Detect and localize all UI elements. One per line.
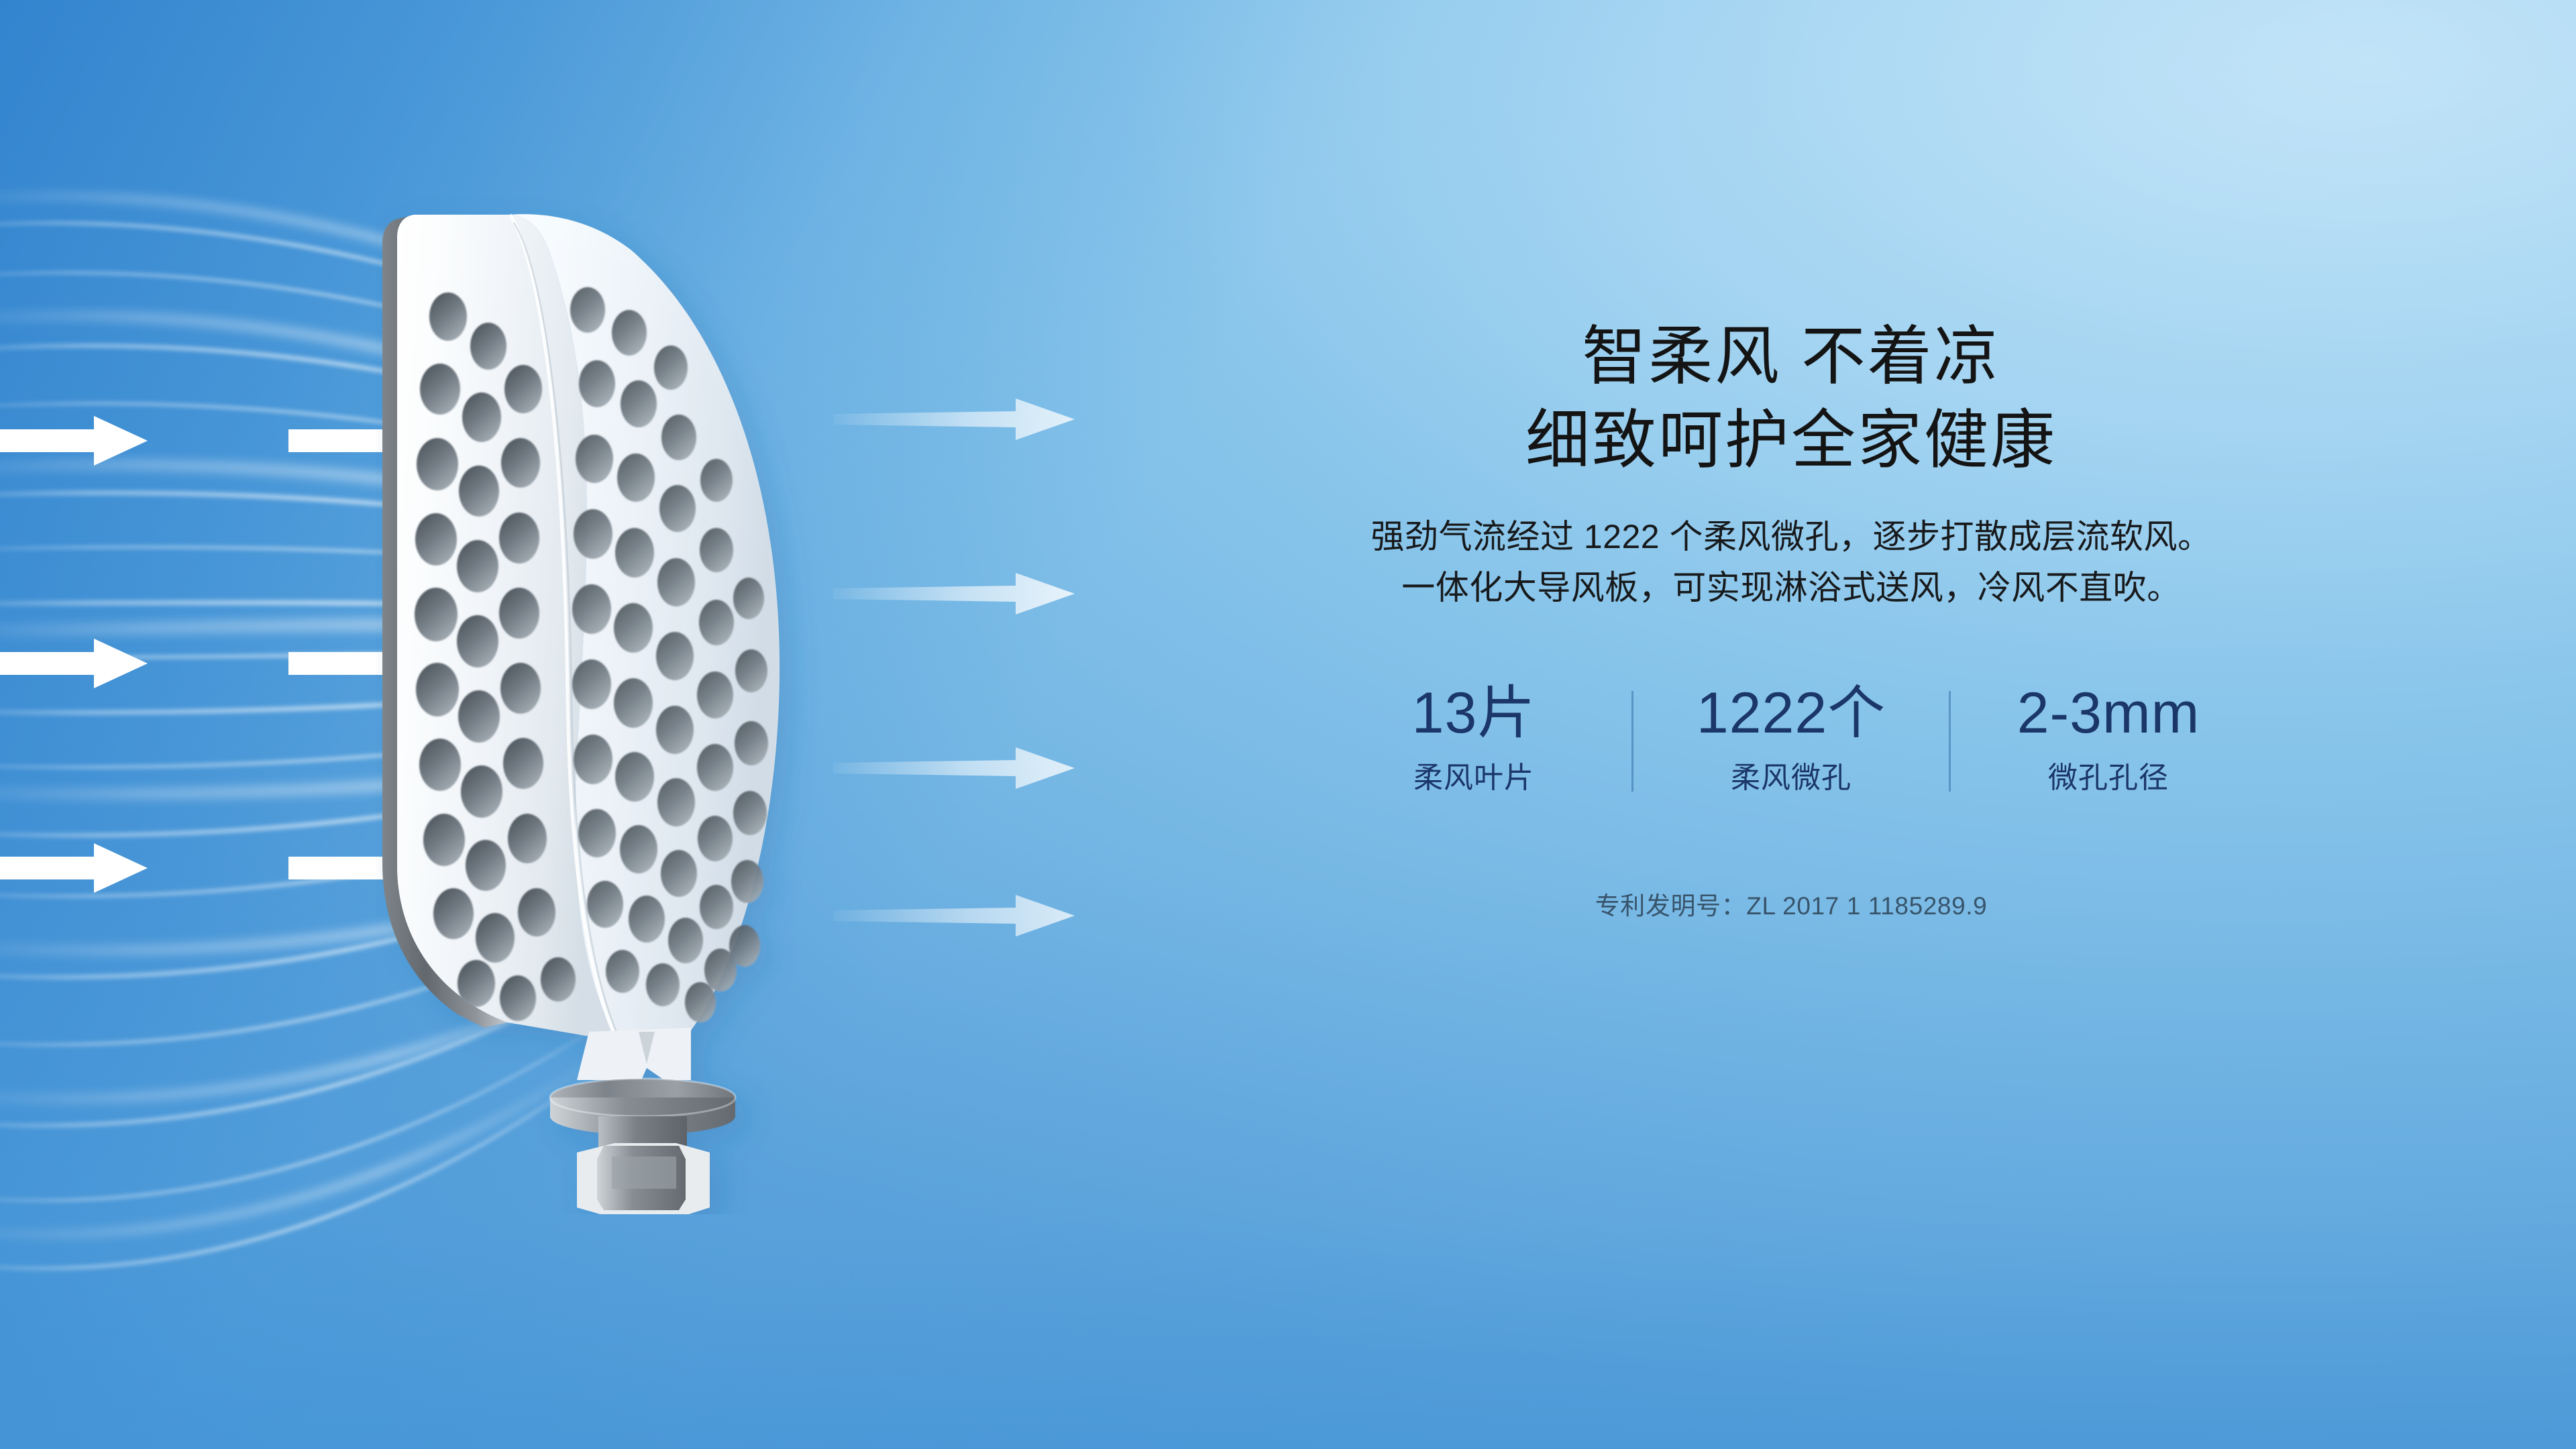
page-title: 智柔风 不着凉 细致呵护全家健康 [1201, 315, 2381, 483]
headline-line-1: 智柔风 不着凉 [1201, 315, 2381, 399]
stat-value: 2-3mm [2017, 684, 2200, 742]
description-line-2: 一体化大导风板，可实现淋浴式送风，冷风不直吹。 [1201, 562, 2381, 613]
stat-label: 柔风微孔 [1731, 762, 1851, 794]
description-line-1: 强劲气流经过 1222 个柔风微孔，逐步打散成层流软风。 [1201, 511, 2381, 562]
stat-value: 1222个 [1697, 684, 1886, 742]
copy-panel: 智柔风 不着凉 细致呵护全家健康 强劲气流经过 1222 个柔风微孔，逐步打散成… [1201, 315, 2381, 922]
patent-number: 专利发明号：ZL 2017 1 1185289.9 [1201, 885, 2381, 922]
stat-item: 2-3mm 微孔孔径 [1951, 684, 2266, 794]
stat-label: 柔风叶片 [1413, 762, 1534, 794]
stat-item: 13片 柔风叶片 [1316, 684, 1631, 794]
spec-stats: 13片 柔风叶片 1222个 柔风微孔 2-3mm 微孔孔径 [1201, 684, 2381, 794]
stat-label: 微孔孔径 [2048, 762, 2169, 794]
product-feature-banner: 智柔风 不着凉 细致呵护全家健康 强劲气流经过 1222 个柔风微孔，逐步打散成… [0, 0, 2576, 1449]
stat-item: 1222个 柔风微孔 [1633, 684, 1949, 794]
headline-line-2: 细致呵护全家健康 [1201, 399, 2381, 483]
description: 强劲气流经过 1222 个柔风微孔，逐步打散成层流软风。 一体化大导风板，可实现… [1201, 511, 2381, 613]
stat-value: 13片 [1412, 684, 1536, 742]
